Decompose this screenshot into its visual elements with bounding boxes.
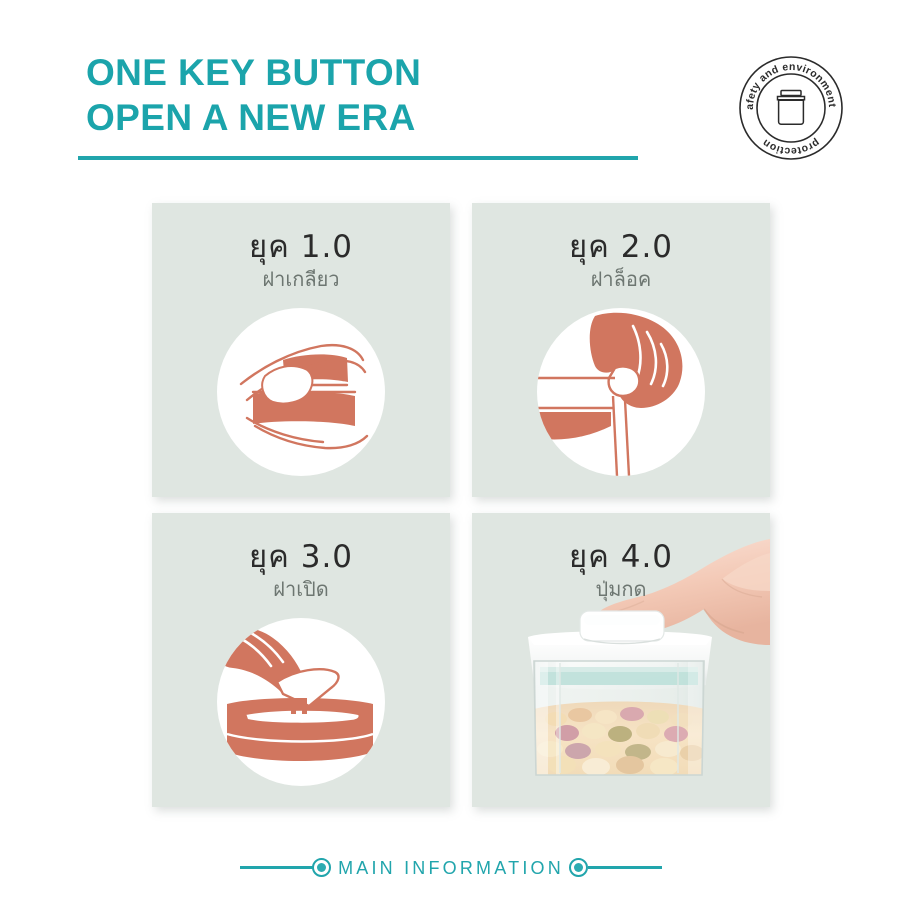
feature-card-era-2[interactable]: ยุค 2.0 ฝาล็อค <box>472 203 770 497</box>
card-subtitle: ฝาล็อค <box>472 263 770 295</box>
title-underline-divider <box>78 156 638 160</box>
feature-card-era-3[interactable]: ยุค 3.0 ฝาเปิด <box>152 513 450 807</box>
footer-rule-left <box>240 866 314 869</box>
card-subtitle: ปุ่มกด <box>472 573 770 605</box>
feature-card-era-1[interactable]: ยุค 1.0 ฝาเกลียว <box>152 203 450 497</box>
hand-twisting-screw-cap-icon <box>217 308 385 476</box>
badge-text-top: Safety and environmental <box>735 52 838 110</box>
svg-text:Safety and environmental: Safety and environmental <box>735 52 838 110</box>
footer-rule-right <box>588 866 662 869</box>
card-subtitle: ฝาเกลียว <box>152 263 450 295</box>
page-title: ONE KEY BUTTON OPEN A NEW ERA <box>86 50 706 140</box>
bullet-dot-left-icon <box>312 858 331 877</box>
container-jar-icon <box>778 91 805 125</box>
poster-canvas: ONE KEY BUTTON OPEN A NEW ERA Safety and… <box>0 0 900 900</box>
safety-environmental-badge: Safety and environmental protection <box>735 52 847 164</box>
card-subtitle: ฝาเปิด <box>152 573 450 605</box>
push-button <box>580 611 664 644</box>
feature-card-era-4[interactable]: ยุค 4.0 ปุ่มกด <box>472 513 770 807</box>
bullet-dot-right-icon <box>569 858 588 877</box>
footer-label: MAIN INFORMATION <box>338 858 564 879</box>
footer-section-divider: MAIN INFORMATION <box>0 852 900 882</box>
hand-lifting-flip-lid-icon <box>217 618 385 786</box>
container-body <box>534 661 704 776</box>
hand-opening-lock-clasp-icon <box>537 308 705 476</box>
